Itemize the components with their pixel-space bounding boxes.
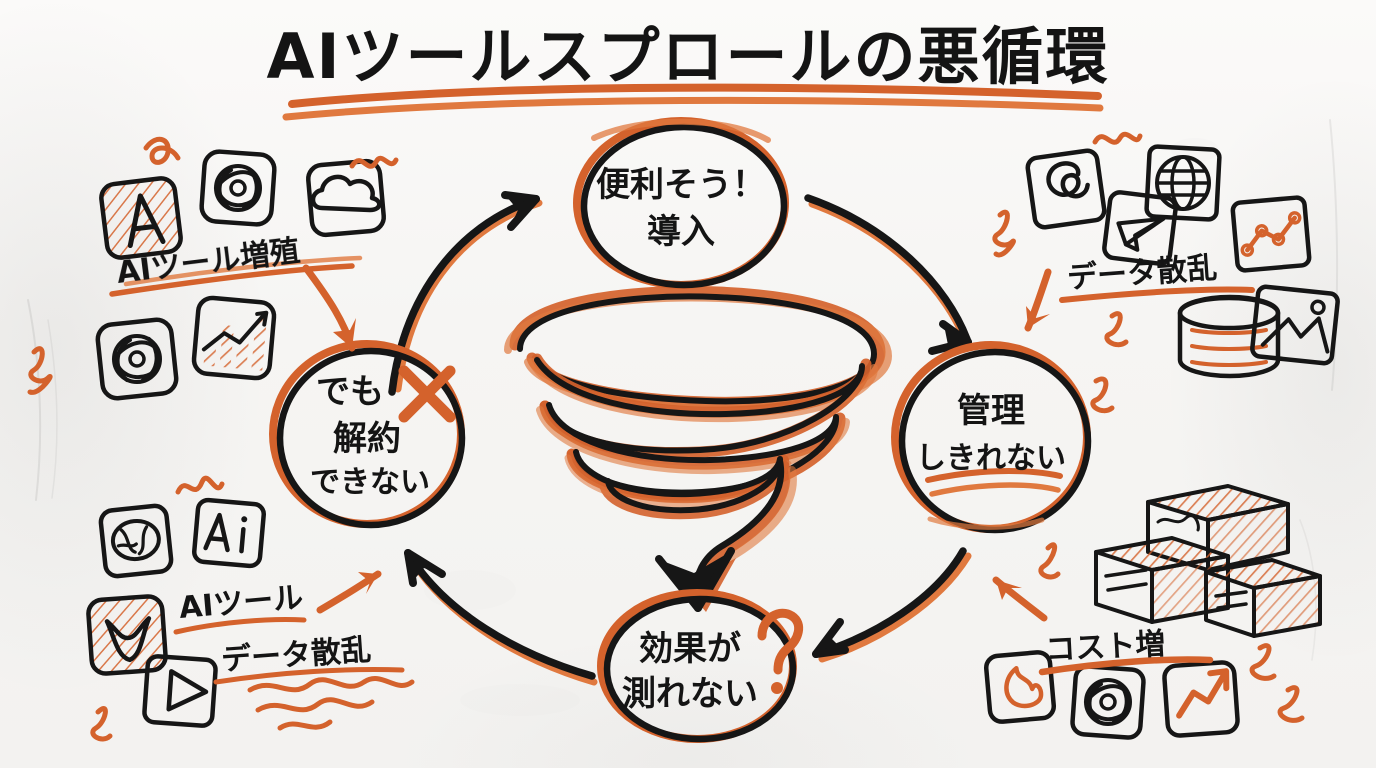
node-adopt-line-2: 導入: [647, 212, 715, 252]
openai-flower-icon: [1072, 666, 1145, 739]
node-no-measure-line-2: 測れない: [622, 674, 758, 714]
node-unmanageable[interactable]: [895, 345, 1088, 530]
arrow-bottom-to-left: [408, 553, 594, 682]
openai-flower-icon: [96, 318, 177, 399]
page-title: AIツールスプロールの悪循環: [266, 20, 1109, 93]
whiteboard-canvas: AIツールスプロールの悪循環 便利そう！ 導入 管理 しきれない 効果が 測れな…: [0, 0, 1376, 768]
node-cannot-cancel-line-1: でも: [316, 372, 384, 412]
cluster-bottom-right-label: コスト増: [1045, 627, 1167, 668]
node-cannot-cancel-line-2: 解約: [333, 419, 401, 459]
stacked-boxes-icon: [1096, 486, 1320, 636]
leaf-icon: [88, 596, 167, 675]
cloud-icon: [307, 160, 385, 236]
arrow-top-to-right: [808, 198, 968, 352]
diagram-svg: AIツールスプロールの悪循環 便利そう！ 導入 管理 しきれない 効果が 測れな…: [0, 0, 1376, 768]
openai-flower-icon: [201, 151, 276, 226]
bar-chart-icon: [193, 297, 275, 379]
arrow-right-to-bottom: [816, 551, 968, 659]
database-icon: [1180, 297, 1278, 376]
node-unmanageable-line-2: しきれない: [916, 441, 1066, 476]
node-no-measure-line-1: 効果が: [639, 629, 741, 669]
anthropic-a-icon: [100, 177, 182, 259]
node-adopt-line-1: 便利そう！: [596, 165, 766, 205]
orange-cross-icon: [404, 371, 450, 417]
fire-icon: [985, 651, 1055, 722]
node-unmanageable-line-1: 管理: [957, 391, 1025, 431]
line-chart-icon: [1232, 197, 1310, 271]
ai-text-icon: [193, 499, 264, 567]
trend-up-icon: [1164, 662, 1239, 737]
brain-icon: [100, 505, 173, 578]
node-cannot-cancel-line-3: できない: [310, 465, 430, 500]
downward-spiral-icon: [508, 291, 888, 612]
spiral-icon: [1026, 149, 1105, 228]
